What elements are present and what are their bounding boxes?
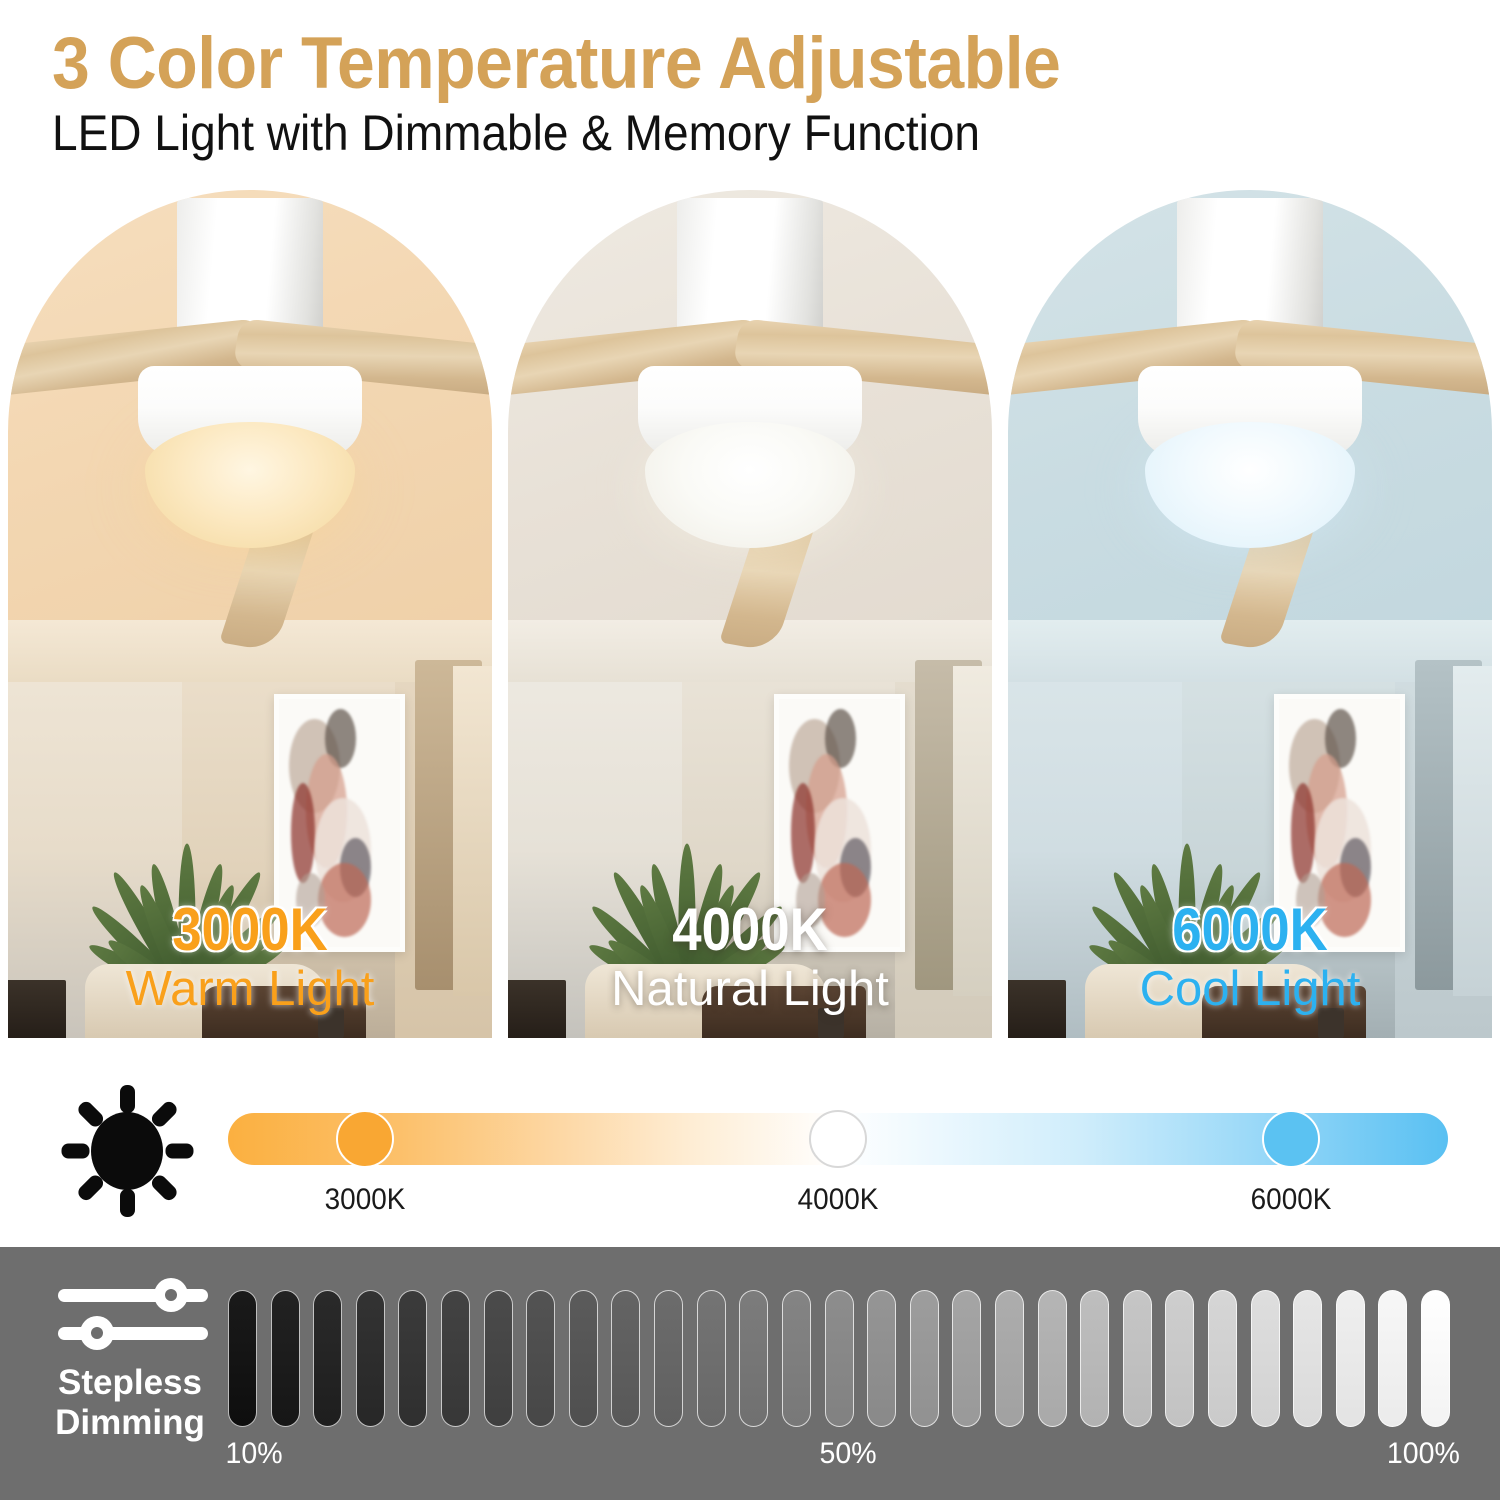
dimming-title-line2: Dimming (55, 1403, 205, 1442)
dimming-pill (611, 1290, 640, 1427)
dimming-pill (569, 1290, 598, 1427)
kelvin-label: 3000K (37, 900, 463, 960)
sliders-icon (58, 1275, 208, 1351)
panel-caption: 6000K Cool Light (1008, 900, 1492, 1016)
panel-natural-light: 4000K Natural Light (508, 190, 992, 1038)
kelvin-label: 4000K (537, 900, 963, 960)
art-shape (291, 783, 315, 882)
dimming-pill (398, 1290, 427, 1427)
cct-handle-3000k[interactable] (336, 1110, 394, 1168)
sun-ray-3 (165, 1144, 193, 1159)
dimming-pill (1421, 1290, 1450, 1427)
dimming-pill (1038, 1290, 1067, 1427)
color-temperature-slider-section: 3000K 4000K 6000K (0, 1040, 1500, 1247)
dimming-pill (1293, 1290, 1322, 1427)
dimming-pill (697, 1290, 726, 1427)
dimming-pill (867, 1290, 896, 1427)
stepless-dimming-section: Stepless Dimming 10% 50% 100% (0, 1247, 1500, 1500)
cct-tick-3000k: 3000K (272, 1183, 458, 1217)
dimming-pill (1123, 1290, 1152, 1427)
dimming-pill (1251, 1290, 1280, 1427)
dimming-pill (654, 1290, 683, 1427)
slider-knob-top (154, 1278, 188, 1312)
dimming-pill (782, 1290, 811, 1427)
panel-warm-light: 3000K Warm Light (8, 190, 492, 1038)
dimming-pill (910, 1290, 939, 1427)
dimming-title: Stepless Dimming (40, 1363, 220, 1442)
kelvin-label: 6000K (1037, 900, 1463, 960)
sun-ray-6 (75, 1173, 105, 1203)
dimming-pill (356, 1290, 385, 1427)
panel-caption: 3000K Warm Light (8, 900, 492, 1016)
dimming-pill (484, 1290, 513, 1427)
ceiling-fan (508, 190, 992, 690)
cct-handle-4000k[interactable] (809, 1110, 867, 1168)
dimming-mark-50: 50% (820, 1437, 877, 1471)
panel-caption: 4000K Natural Light (508, 900, 992, 1016)
dimming-pill (1378, 1290, 1407, 1427)
cct-tick-6000k: 6000K (1198, 1183, 1384, 1217)
dimming-pill (995, 1290, 1024, 1427)
dimming-mark-10: 10% (226, 1437, 283, 1471)
light-name-label: Natural Light (508, 963, 992, 1016)
panel-cool-light: 6000K Cool Light (1008, 190, 1492, 1038)
ceiling-fan (8, 190, 492, 690)
dimming-pill (526, 1290, 555, 1427)
page-subtitle: LED Light with Dimmable & Memory Functio… (52, 104, 980, 162)
sun-ray-7 (61, 1144, 89, 1159)
page-title: 3 Color Temperature Adjustable (52, 22, 1060, 105)
dimming-pill (1165, 1290, 1194, 1427)
dimming-mark-100: 100% (1387, 1437, 1460, 1471)
dimming-pill (1208, 1290, 1237, 1427)
dimming-pill (271, 1290, 300, 1427)
dimming-pill (825, 1290, 854, 1427)
slider-knob-bottom (80, 1316, 114, 1350)
dimming-pill (952, 1290, 981, 1427)
sun-ray-4 (149, 1173, 179, 1203)
cct-handle-6000k[interactable] (1262, 1110, 1320, 1168)
dimming-pill-scale (228, 1290, 1450, 1427)
dimming-title-line1: Stepless (58, 1363, 202, 1402)
ceiling-fan (1008, 190, 1492, 690)
header: 3 Color Temperature Adjustable LED Light… (0, 0, 1500, 176)
color-temperature-panels: 3000K Warm Light (0, 190, 1500, 1038)
art-shape (1291, 783, 1315, 882)
dimming-pill (313, 1290, 342, 1427)
dimming-pill (228, 1290, 257, 1427)
sun-ray-5 (120, 1189, 135, 1217)
brightness-sun-icon (52, 1076, 202, 1226)
dimming-pill (441, 1290, 470, 1427)
cct-tick-4000k: 4000K (745, 1183, 931, 1217)
dimming-pill (739, 1290, 768, 1427)
dimming-pill (1336, 1290, 1365, 1427)
dimming-pill (1080, 1290, 1109, 1427)
light-name-label: Cool Light (1008, 963, 1492, 1016)
light-name-label: Warm Light (8, 963, 492, 1016)
sun-ray-1 (120, 1085, 135, 1113)
art-shape (791, 783, 815, 882)
